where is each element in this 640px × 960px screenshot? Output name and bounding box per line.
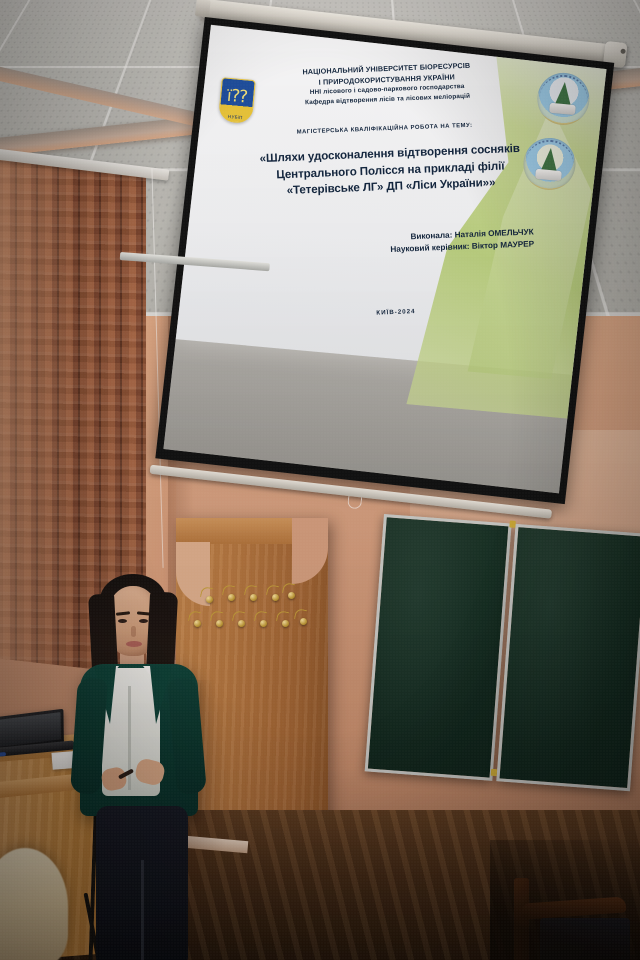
presenter xyxy=(58,560,218,960)
trouser-leg-seam xyxy=(141,860,144,960)
coat-hook xyxy=(250,594,257,601)
coat-hook xyxy=(238,620,245,627)
chalkboard-clip xyxy=(509,520,516,527)
slide-authors: Виконала: Наталія ОМЕЛЬЧУК Науковий кері… xyxy=(244,225,559,262)
screen-surface: ї⁇ НУБіП НАЦІОН xyxy=(163,25,606,494)
chalkboard xyxy=(365,514,640,791)
lecture-room-photo: ї⁇ НУБіП НАЦІОН xyxy=(0,0,640,960)
coat-hook xyxy=(228,594,235,601)
projected-slide: ї⁇ НУБіП НАЦІОН xyxy=(171,25,606,376)
coat-hook xyxy=(288,592,295,599)
slide-city-year: КИЇВ-2024 xyxy=(189,300,603,323)
foreground-shadow-right xyxy=(490,840,640,960)
coat-hook xyxy=(260,620,267,627)
nose xyxy=(131,626,136,637)
eye-right xyxy=(139,619,148,623)
coat-hook xyxy=(272,594,279,601)
chalkboard-panel-right xyxy=(496,524,640,791)
chalkboard-panel-left xyxy=(365,514,512,781)
slide-header: НАЦІОНАЛЬНИЙ УНІВЕРСИТЕТ БІОРЕСУРСІВ І П… xyxy=(225,56,549,111)
roller-screw-dot xyxy=(620,49,626,55)
eye-left xyxy=(118,619,127,623)
screen-roller-left-tab xyxy=(195,0,211,17)
chalkboard-clip xyxy=(491,769,498,776)
coat-hook xyxy=(300,618,307,625)
slide-text-block: НАЦІОНАЛЬНИЙ УНІВЕРСИТЕТ БІОРЕСУРСІВ І П… xyxy=(179,34,605,366)
coat-rack-curve-right xyxy=(292,518,328,584)
lips xyxy=(126,641,142,647)
coat-hook xyxy=(282,620,289,627)
slide-subtitle: МАГІСТЕРСЬКА КВАЛІФІКАЦІЙНА РОБОТА НА ТЕ… xyxy=(232,120,538,138)
eyebrow-left xyxy=(116,611,130,615)
slide-title: «Шляхи удосконалення відтворення соснякі… xyxy=(203,139,577,203)
